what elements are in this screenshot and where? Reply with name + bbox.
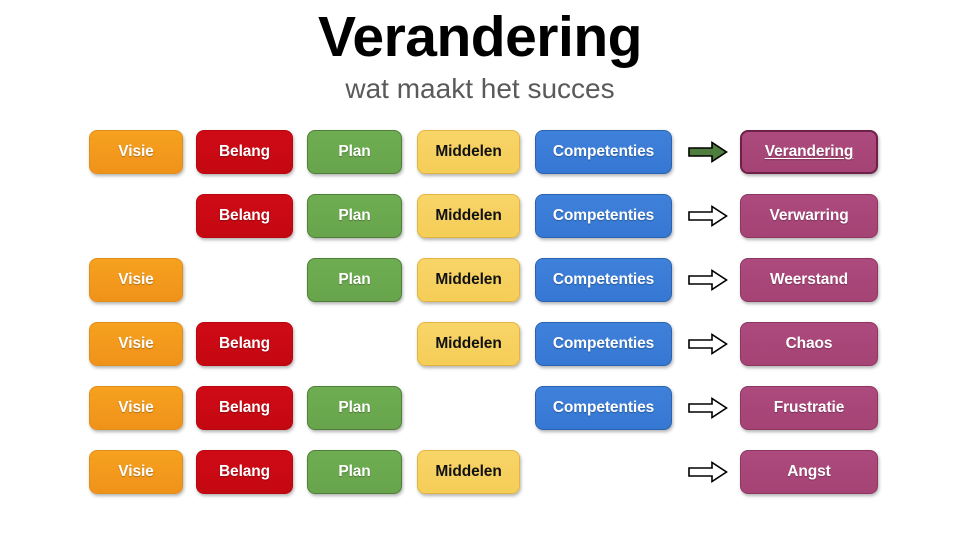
cell-belang[interactable]: Belang <box>196 322 293 366</box>
cell-plan[interactable]: Plan <box>307 386 402 430</box>
cell-visie[interactable]: Visie <box>89 322 183 366</box>
cell-plan[interactable]: Plan <box>307 130 402 174</box>
cell-competenties[interactable]: Competenties <box>535 386 672 430</box>
page-subtitle: wat maakt het succes <box>0 70 960 106</box>
right-arrow-icon <box>686 258 730 302</box>
matrix-row: BelangPlanMiddelenCompetentiesVerwarring <box>0 194 960 238</box>
matrix-row: VisiePlanMiddelenCompetentiesWeerstand <box>0 258 960 302</box>
cell-middelen[interactable]: Middelen <box>417 322 520 366</box>
cell-belang[interactable]: Belang <box>196 130 293 174</box>
right-arrow-icon <box>686 194 730 238</box>
cell-middelen[interactable]: Middelen <box>417 258 520 302</box>
right-arrow-icon <box>686 322 730 366</box>
matrix-row: VisieBelangPlanCompetentiesFrustratie <box>0 386 960 430</box>
cell-plan[interactable]: Plan <box>307 258 402 302</box>
cell-competenties[interactable]: Competenties <box>535 194 672 238</box>
matrix-row: VisieBelangMiddelenCompetentiesChaos <box>0 322 960 366</box>
cell-plan-missing <box>307 322 402 366</box>
cell-competenties[interactable]: Competenties <box>535 130 672 174</box>
cell-plan[interactable]: Plan <box>307 450 402 494</box>
cell-middelen[interactable]: Middelen <box>417 194 520 238</box>
cell-visie-missing <box>89 194 183 238</box>
header: Verandering wat maakt het succes <box>0 0 960 106</box>
right-arrow-icon <box>686 130 730 174</box>
verandering-matrix: VisieBelangPlanMiddelenCompetentiesVeran… <box>0 118 960 538</box>
cell-belang-missing <box>196 258 293 302</box>
cell-belang[interactable]: Belang <box>196 450 293 494</box>
cell-competenties[interactable]: Competenties <box>535 258 672 302</box>
cell-visie[interactable]: Visie <box>89 130 183 174</box>
cell-outcome[interactable]: Weerstand <box>740 258 878 302</box>
cell-middelen[interactable]: Middelen <box>417 130 520 174</box>
matrix-row: VisieBelangPlanMiddelenAngst <box>0 450 960 494</box>
cell-visie[interactable]: Visie <box>89 386 183 430</box>
cell-outcome[interactable]: Verwarring <box>740 194 878 238</box>
cell-outcome[interactable]: Verandering <box>740 130 878 174</box>
cell-visie[interactable]: Visie <box>89 258 183 302</box>
cell-middelen[interactable]: Middelen <box>417 450 520 494</box>
cell-competenties-missing <box>535 450 672 494</box>
right-arrow-icon <box>686 450 730 494</box>
outcome-label: Verandering <box>765 143 854 161</box>
cell-belang[interactable]: Belang <box>196 194 293 238</box>
cell-visie[interactable]: Visie <box>89 450 183 494</box>
cell-outcome[interactable]: Frustratie <box>740 386 878 430</box>
cell-plan[interactable]: Plan <box>307 194 402 238</box>
matrix-row: VisieBelangPlanMiddelenCompetentiesVeran… <box>0 130 960 174</box>
right-arrow-icon <box>686 386 730 430</box>
cell-belang[interactable]: Belang <box>196 386 293 430</box>
cell-middelen-missing <box>417 386 520 430</box>
cell-competenties[interactable]: Competenties <box>535 322 672 366</box>
page-title: Verandering <box>0 0 960 70</box>
cell-outcome[interactable]: Chaos <box>740 322 878 366</box>
cell-outcome[interactable]: Angst <box>740 450 878 494</box>
